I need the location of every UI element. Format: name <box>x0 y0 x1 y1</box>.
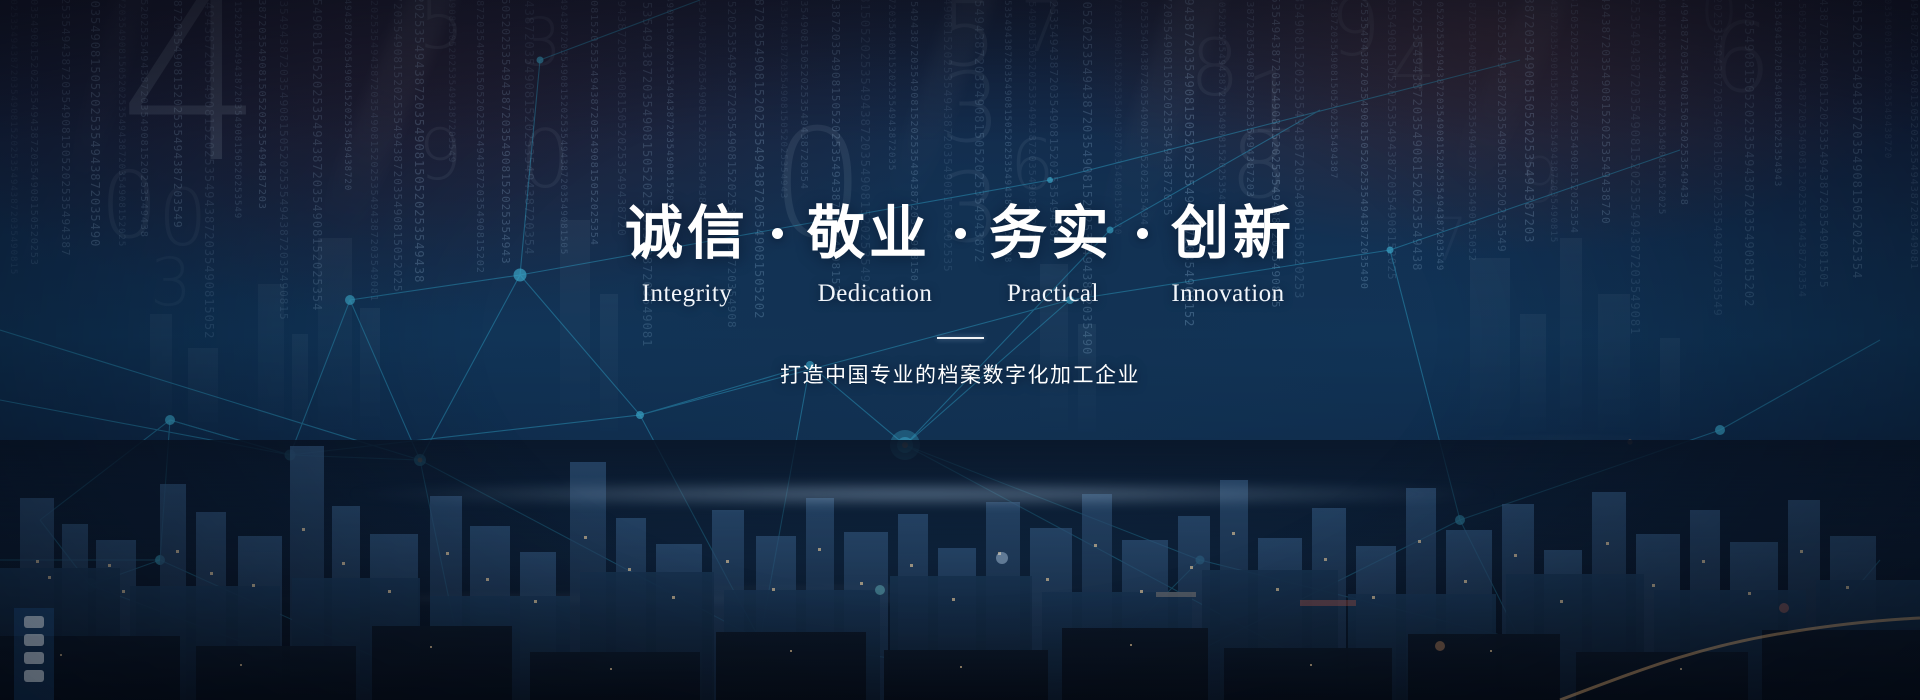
digit-column-41: 3872035490815202535494387203549081505202… <box>1137 0 1150 226</box>
background-digit-16: 6 <box>1710 10 1771 106</box>
digit-column-64: 8720354908150520253549438720354908152025… <box>1770 0 1783 187</box>
background-digit-11: 8 <box>1190 30 1240 108</box>
digit-column-45: 5490815052025354943872035490815202535494… <box>1243 0 1256 198</box>
background-digit-14: 9 <box>1330 0 1381 68</box>
digit-column-6: 0815052025354943872035490815202535494387… <box>171 0 184 229</box>
digit-column-32: 4908150520253549438720354908152025354943… <box>884 0 897 171</box>
digit-column-16: 0815202535494387203549081505202535494387… <box>444 0 457 163</box>
subline-word-practical: Practical <box>973 280 1133 308</box>
digit-column-25: 0354908150520253549438720354908152025354… <box>695 0 708 218</box>
headline-separator-dot-2 <box>931 228 989 239</box>
digit-column-42: 4908152025354943872035490815052025354943… <box>1161 0 1174 217</box>
background-cityscape <box>0 440 1920 700</box>
headline-word-1: 诚信 <box>625 196 749 270</box>
headline-word-3: 务实 <box>989 196 1113 270</box>
tagline: 打造中国专业的档案数字化加工企业 <box>0 359 1920 389</box>
subline-row: Integrity Dedication Practical Innovatio… <box>0 280 1920 308</box>
background-digit-17: 0 <box>1700 0 1738 42</box>
headline-word-2: 敬业 <box>807 196 931 270</box>
background-digit-3: 9 <box>418 120 463 190</box>
headline-word-4: 创新 <box>1171 196 1295 270</box>
background-digit-9: 3 <box>940 60 1001 156</box>
digit-column-9: 5490815202535494387203549081505202535494… <box>255 0 268 210</box>
background-digit-15: 4 <box>1390 30 1436 102</box>
digit-column-60: 3549438720354908152025354943872035490815… <box>1654 0 1667 215</box>
digit-column-12: 3549081505202535494387203549081520253549… <box>340 0 353 191</box>
subline-word-innovation: Innovation <box>1133 280 1323 308</box>
digit-column-61: 7203549081520253549438720354908150520253… <box>1677 0 1690 206</box>
digit-column-44: 4387203549081505202535494387203549081520… <box>1214 0 1227 207</box>
subline-word-dedication: Dedication <box>777 280 973 308</box>
digit-column-29: 9081520253549438720354908150520253549438… <box>797 0 810 190</box>
city-horizon-glow <box>346 484 1498 504</box>
digit-column-58: 3549081505202535494387203549081520253549… <box>1599 0 1612 225</box>
background-digit-4: 0 <box>520 120 571 200</box>
digit-column-68: 3549081520253549438720354908150520253549… <box>1880 0 1893 159</box>
background-digit-5: 7 <box>1020 0 1065 62</box>
section-divider <box>937 337 984 339</box>
background-digit-0: 4 <box>118 0 264 196</box>
background-digit-1: 5 <box>418 0 465 60</box>
headline-separator-dot-3 <box>1113 228 1171 239</box>
hero-banner: 45390760533818946003097 0520253549438720… <box>0 0 1920 700</box>
subline-word-integrity: Integrity <box>597 280 777 308</box>
headline-separator-dot-1 <box>749 228 807 239</box>
digit-column-8: 4387203549081520253549438720354908150520… <box>230 0 243 219</box>
digit-column-28: 8720354908152025354943872035490815052025… <box>776 0 789 199</box>
background-digit-6: 6 <box>1010 130 1055 200</box>
background-digit-8: 5 <box>940 0 997 80</box>
digit-column-24: 4943872035490815052025354943872035490815… <box>662 0 675 227</box>
headline-row: 诚信 敬业 务实 创新 <box>0 196 1920 270</box>
background-digit-2: 3 <box>520 10 562 76</box>
digit-column-48: 2035490815202535494387203549081505202535… <box>1326 0 1339 179</box>
banner-content: 诚信 敬业 务实 创新 Integrity Dedication Practic… <box>0 196 1920 389</box>
background-digit-12: 1 <box>1245 60 1300 146</box>
